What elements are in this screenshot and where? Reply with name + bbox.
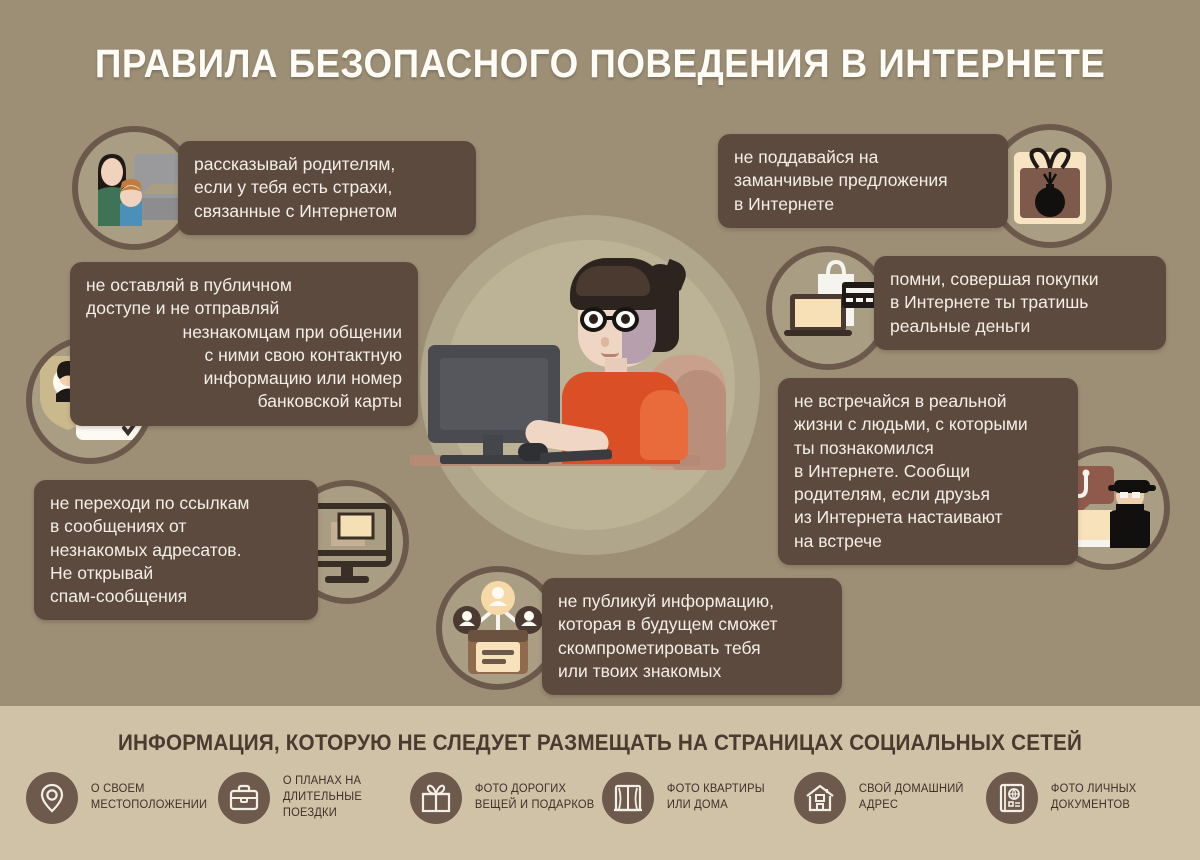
- tip-line: ты познакомился: [794, 437, 1062, 460]
- tip-line: с ними свою контактную: [86, 344, 402, 367]
- tip-line: не публикуй информацию,: [558, 590, 826, 613]
- tip-line: реальные деньги: [890, 315, 1150, 338]
- pupil-left: [589, 314, 598, 324]
- tip-line: в Интернете. Сообщи: [794, 460, 1062, 483]
- tip-line: спам-сообщения: [50, 585, 302, 608]
- pupil-right: [621, 314, 630, 324]
- tip-line: из Интернета настаивают: [794, 506, 1062, 529]
- tip-do-not-share-contacts-bubble: не оставляй в публичном доступе и не отп…: [70, 262, 418, 426]
- footer-item-label: О СВОЕМ МЕСТОПОЛОЖЕНИИ: [91, 782, 214, 814]
- tip-line: скомпрометировать тебя: [558, 637, 826, 660]
- footer-item-address: СВОЙ ДОМАШНИЙ АДРЕС: [794, 772, 984, 824]
- nose: [601, 337, 609, 347]
- boy-sleeve: [640, 390, 688, 460]
- tip-line: на встрече: [794, 530, 1062, 553]
- tip-line: доступе и не отправляй: [86, 297, 402, 320]
- tip-line: не встречайся в реальной: [794, 390, 1062, 413]
- footer-item-trips: О ПЛАНАХ НА ДЛИТЕЛЬНЫЕ ПОЕЗДКИ: [218, 772, 408, 824]
- tip-online-purchases-bubble: помни, совершая покупки в Интернете ты т…: [874, 256, 1166, 350]
- poster-title-text: ПРАВИЛА БЕЗОПАСНОГО ПОВЕДЕНИЯ В ИНТЕРНЕТ…: [95, 42, 1105, 87]
- tip-do-not-publish-info-bubble: не публикуй информацию, которая в будуще…: [542, 578, 842, 695]
- tip-line: незнакомых адресатов.: [50, 539, 302, 562]
- tip-line: в сообщениях от: [50, 515, 302, 538]
- footer-item-location: О СВОЕМ МЕСТОПОЛОЖЕНИИ: [26, 772, 216, 824]
- tip-line: рассказывай родителям,: [194, 153, 460, 176]
- infographic-poster: ПРАВИЛА БЕЗОПАСНОГО ПОВЕДЕНИЯ В ИНТЕРНЕТ…: [0, 0, 1200, 860]
- tip-line: не поддавайся на: [734, 146, 992, 169]
- footer-item-list: О СВОЕМ МЕСТОПОЛОЖЕНИИ О ПЛАНАХ НА ДЛИТЕ…: [26, 772, 1176, 824]
- tip-do-not-click-links-bubble: не переходи по ссылкам в сообщениях от н…: [34, 480, 318, 620]
- glasses-bridge: [606, 316, 615, 320]
- tip-line: помни, совершая покупки: [890, 268, 1150, 291]
- tip-line: не переходи по ссылкам: [50, 492, 302, 515]
- tip-line: незнакомцам при общении: [86, 321, 402, 344]
- tip-line: Не открывай: [50, 562, 302, 585]
- mouth: [601, 352, 619, 357]
- tip-line: банковской карты: [86, 390, 402, 413]
- tip-do-not-meet-strangers-bubble: не встречайся в реальной жизни с людьми,…: [778, 378, 1078, 565]
- tip-line: заманчивые предложения: [734, 169, 992, 192]
- tip-line: информацию или номер: [86, 367, 402, 390]
- footer-item-label: ФОТО ДОРОГИХ ВЕЩЕЙ И ПОДАРКОВ: [475, 782, 598, 814]
- house-icon: [794, 772, 846, 824]
- window-icon: [602, 772, 654, 824]
- map-pin-icon: [26, 772, 78, 824]
- footer-item-label: ФОТО ЛИЧНЫХ ДОКУМЕНТОВ: [1051, 782, 1174, 814]
- footer-item-label: О ПЛАНАХ НА ДЛИТЕЛЬНЫЕ ПОЕЗДКИ: [283, 774, 406, 822]
- laptop-shopping-card-icon: [766, 246, 890, 370]
- tip-line: или твоих знакомых: [558, 660, 826, 683]
- poster-title: ПРАВИЛА БЕЗОПАСНОГО ПОВЕДЕНИЯ В ИНТЕРНЕТ…: [0, 42, 1200, 87]
- tip-line: не оставляй в публичном: [86, 274, 402, 297]
- tip-tell-parents-bubble: рассказывай родителям, если у тебя есть …: [178, 141, 476, 235]
- footer-item-valuables: ФОТО ДОРОГИХ ВЕЩЕЙ И ПОДАРКОВ: [410, 772, 600, 824]
- hair-highlight: [576, 266, 650, 296]
- footer-band: ИНФОРМАЦИЯ, КОТОРУЮ НЕ СЛЕДУЕТ РАЗМЕЩАТЬ…: [0, 706, 1200, 860]
- tip-line: родителям, если друзья: [794, 483, 1062, 506]
- tip-line: в Интернете: [734, 193, 992, 216]
- footer-item-label: ФОТО КВАРТИРЫ ИЛИ ДОМА: [667, 782, 790, 814]
- footer-title: ИНФОРМАЦИЯ, КОТОРУЮ НЕ СЛЕДУЕТ РАЗМЕЩАТЬ…: [36, 730, 1164, 756]
- tip-line: которая в будущем сможет: [558, 613, 826, 636]
- tip-do-not-fall-for-offers-bubble: не поддавайся на заманчивые предложения …: [718, 134, 1008, 228]
- gift-icon: [410, 772, 462, 824]
- briefcase-icon: [218, 772, 270, 824]
- passport-icon: [986, 772, 1038, 824]
- footer-item-documents: ФОТО ЛИЧНЫХ ДОКУМЕНТОВ: [986, 772, 1176, 824]
- monitor-screen: [440, 358, 548, 430]
- tip-line: в Интернете ты тратишь: [890, 291, 1150, 314]
- tip-line: жизни с людьми, с которыми: [794, 413, 1062, 436]
- footer-item-home-photo: ФОТО КВАРТИРЫ ИЛИ ДОМА: [602, 772, 792, 824]
- footer-item-label: СВОЙ ДОМАШНИЙ АДРЕС: [859, 782, 982, 814]
- tip-line: связанные с Интернетом: [194, 200, 460, 223]
- tip-line: если у тебя есть страхи,: [194, 176, 460, 199]
